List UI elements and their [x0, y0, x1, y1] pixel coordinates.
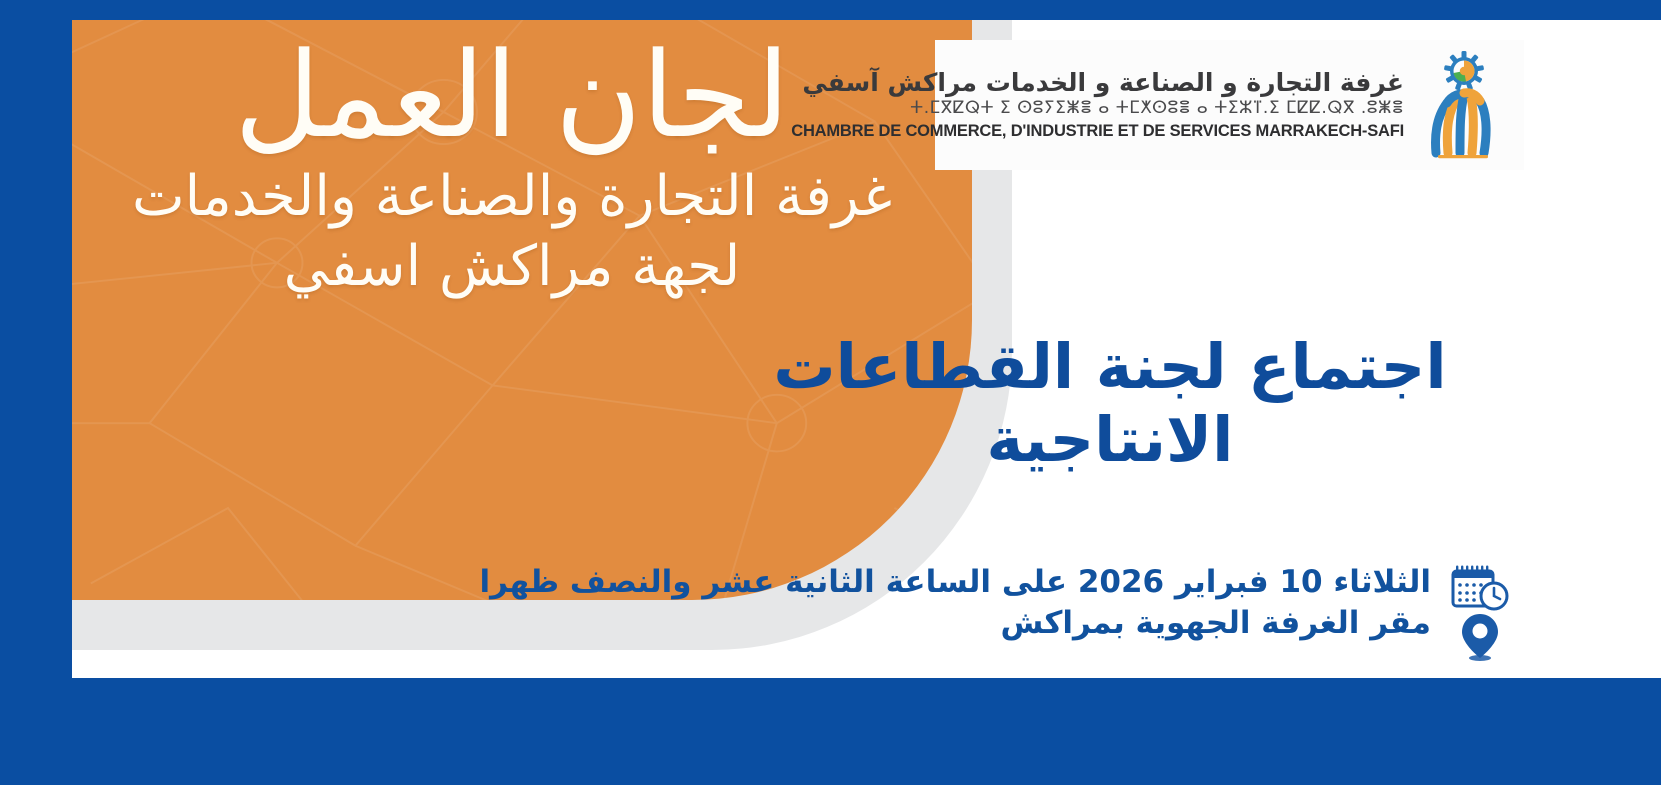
poster-root: لجان العمل غرفة التجارة والصناعة والخدما…	[0, 0, 1661, 785]
main-title-line-1: اجتماع لجنة القطاعات	[760, 330, 1460, 403]
main-title-line-2: الانتاجية	[760, 403, 1460, 476]
frame-left-band	[0, 0, 72, 785]
logo-tifinagh-name: ⵜ.ⵎⴳⵇⵕⵜ ⵉ ⵙⵓⵢⵉⵥⴻ ⴰ ⵜⵎⵅⵙⵓⴻ ⴰ ⵜⵉⵣⴶ.ⵉ ⵎⵇⵇ.ⵕ…	[791, 100, 1404, 117]
frame-bottom-band	[0, 678, 1661, 785]
event-place-line: مقر الغرفة الجهوية بمراكش	[480, 603, 1431, 644]
frame-top-strip	[72, 0, 1661, 20]
event-meta-text: الثلاثاء 10 فبراير 2026 على الساعة الثان…	[480, 562, 1431, 644]
calendar-clock-icon	[1449, 564, 1511, 612]
event-meta: الثلاثاء 10 فبراير 2026 على الساعة الثان…	[480, 562, 1511, 662]
chamber-of-commerce-logo-icon	[1414, 49, 1514, 161]
meta-icon-column	[1449, 562, 1511, 662]
main-title: اجتماع لجنة القطاعات الانتاجية	[760, 330, 1460, 476]
logo-arabic-name: غرفة التجارة و الصناعة و الخدمات مراكش آ…	[791, 70, 1404, 95]
event-date-line: الثلاثاء 10 فبراير 2026 على الساعة الثان…	[480, 562, 1431, 603]
logo-plate: غرفة التجارة و الصناعة و الخدمات مراكش آ…	[935, 40, 1524, 170]
logo-french-name: CHAMBRE DE COMMERCE, D'INDUSTRIE ET DE S…	[791, 123, 1404, 140]
logo-text-block: غرفة التجارة و الصناعة و الخدمات مراكش آ…	[791, 70, 1404, 140]
location-pin-icon	[1456, 612, 1504, 662]
